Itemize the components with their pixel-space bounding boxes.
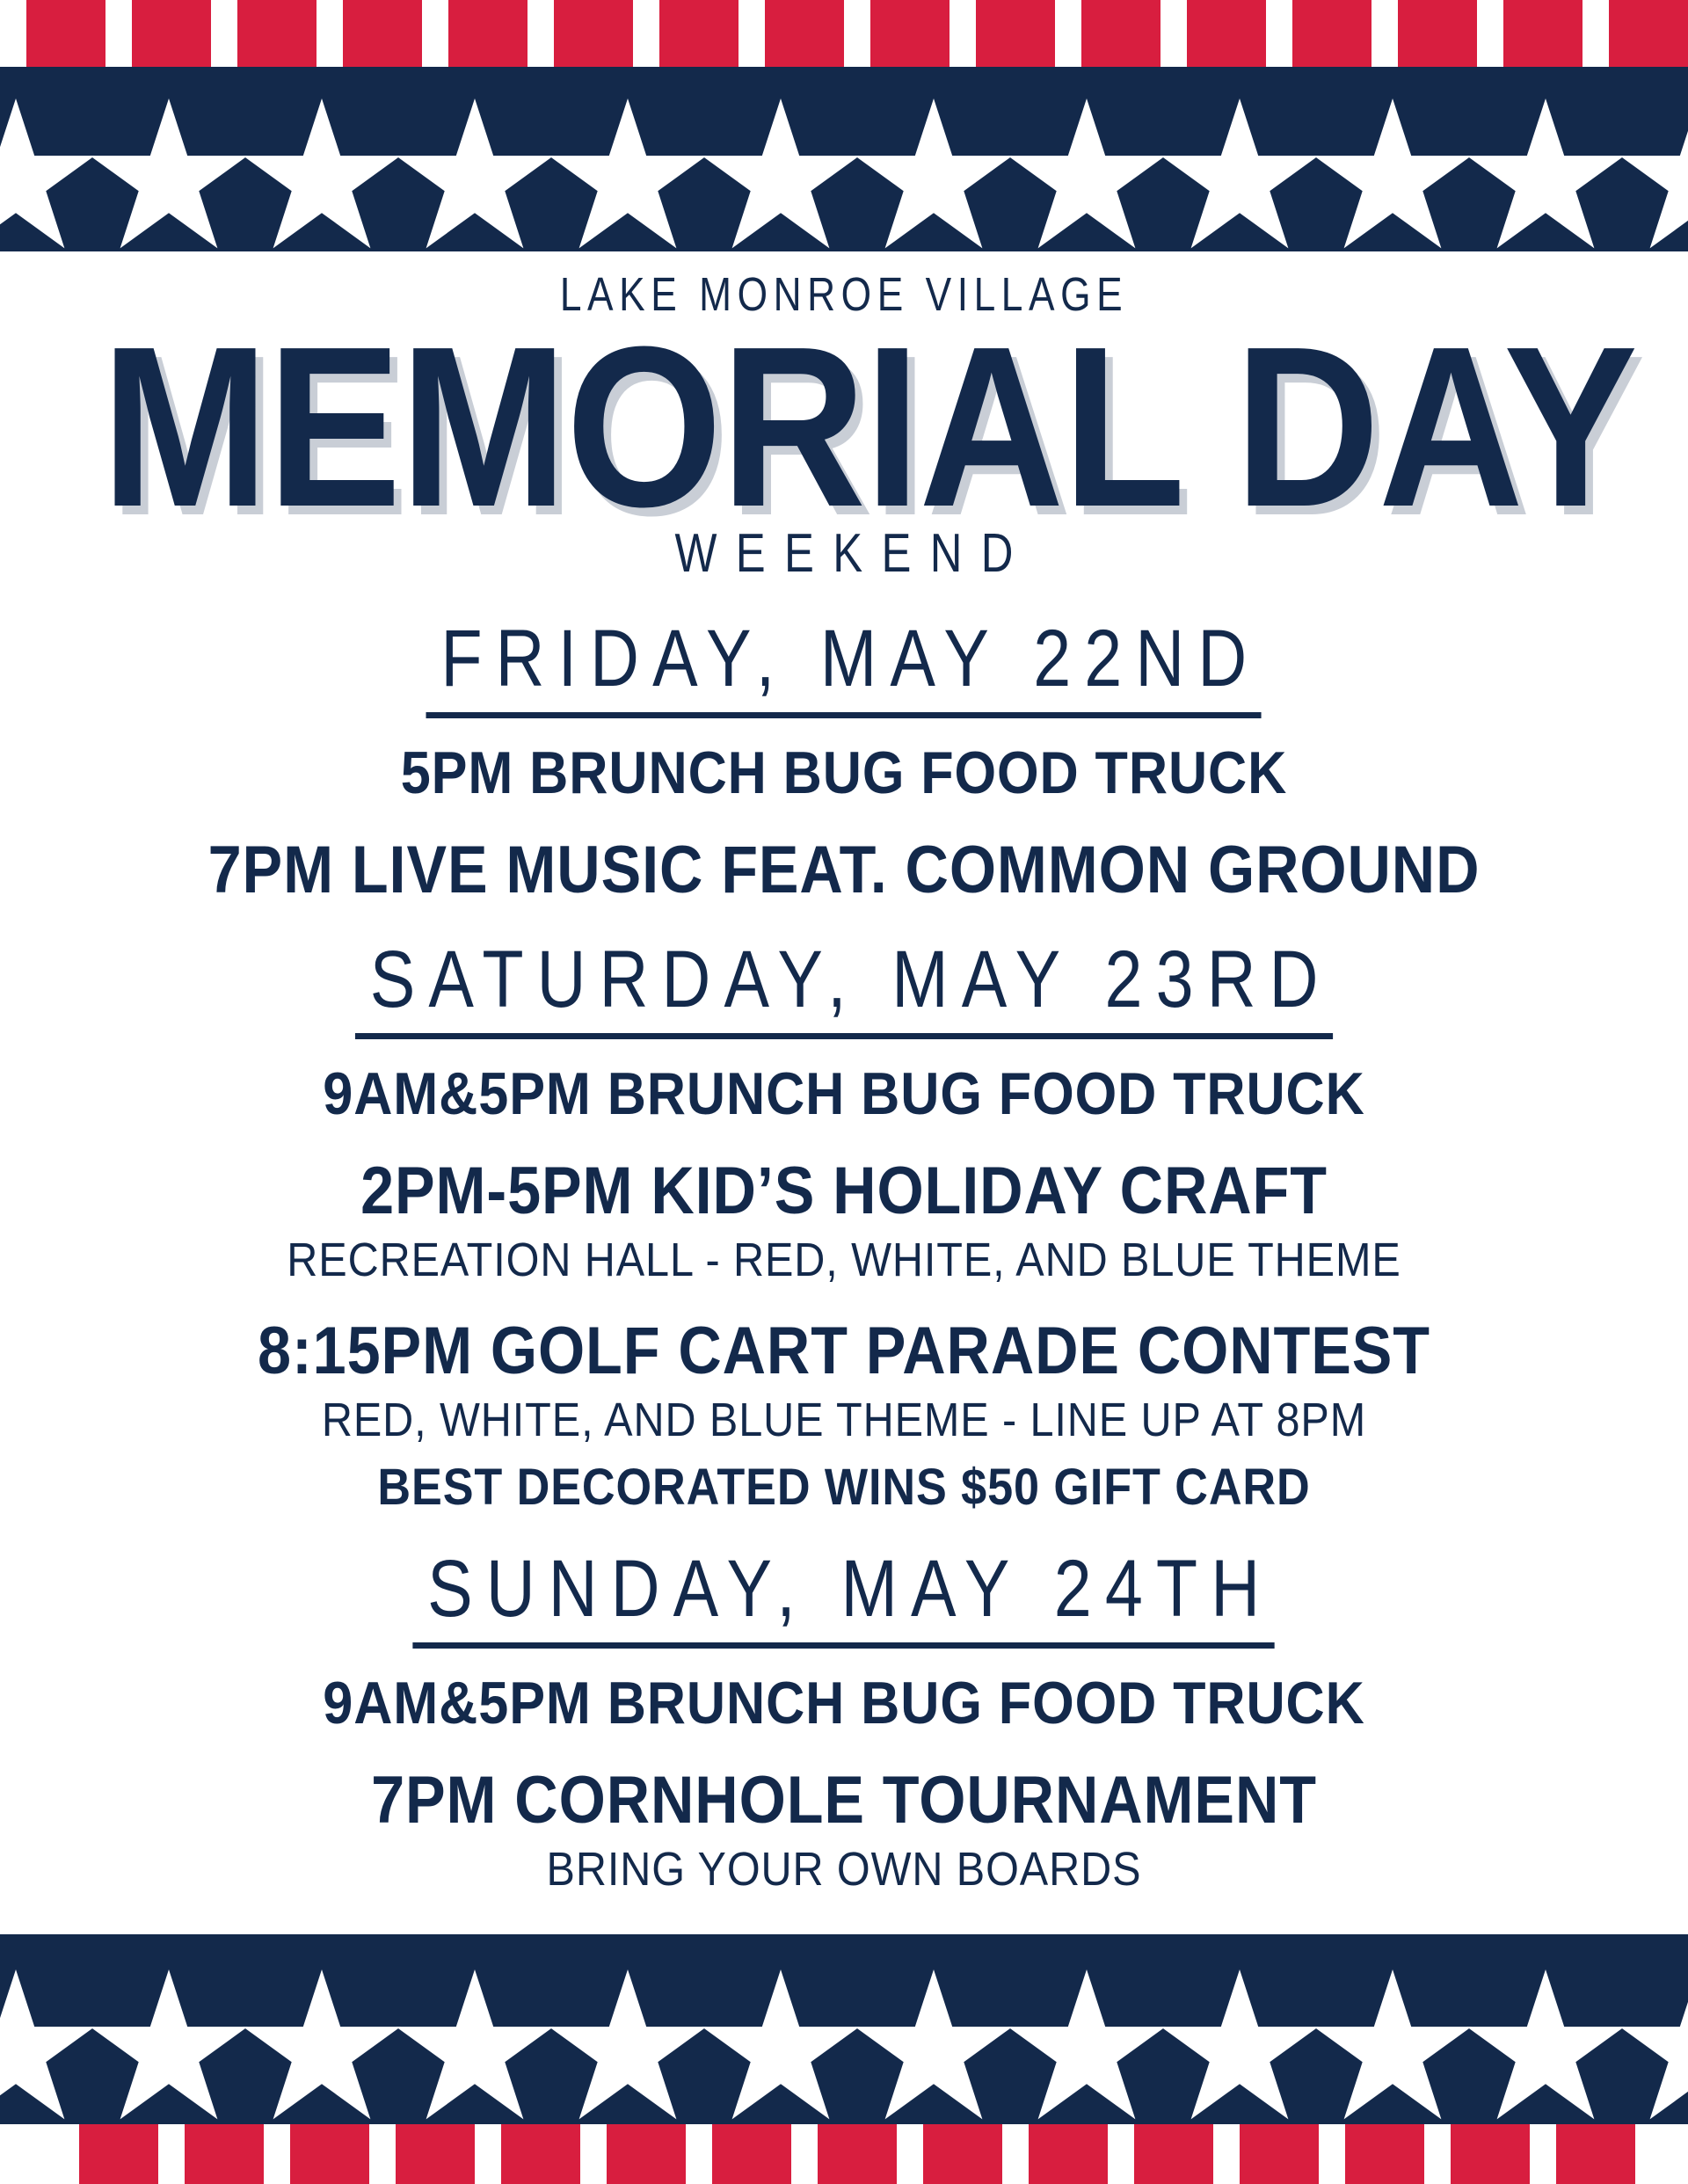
day-section-friday: FRIDAY, MAY 22ND	[0, 581, 1688, 718]
day-heading-sunday: SUNDAY, MAY 24TH	[413, 1541, 1275, 1649]
day-section-saturday: SATURDAY, MAY 23RD	[0, 907, 1688, 1039]
flyer-content: LAKE MONROE VILLAGE MEMORIAL DAY WEEKEND…	[0, 257, 1688, 1896]
event-sunday-2-sub-1: BRING YOUR OWN BOARDS	[84, 1838, 1604, 1897]
top-border-svg	[0, 0, 1688, 257]
event-friday-2: 7PM LIVE MUSIC FEAT. COMMON GROUND	[84, 806, 1604, 907]
event-sunday-2: 7PM CORNHOLE TOURNAMENT	[84, 1736, 1604, 1838]
bottom-border-decoration	[0, 1929, 1688, 2184]
event-sunday-1: 9AM&5PM BRUNCH BUG FOOD TRUCK	[84, 1649, 1604, 1736]
event-saturday-3: 8:15PM GOLF CART PARADE CONTEST	[84, 1287, 1604, 1388]
event-saturday-3-sub-2: BEST DECORATED WINS $50 GIFT CARD	[84, 1448, 1604, 1517]
day-heading-friday: FRIDAY, MAY 22ND	[426, 611, 1262, 718]
event-friday-1: 5PM BRUNCH BUG FOOD TRUCK	[84, 718, 1604, 806]
event-saturday-2-sub-1: RECREATION HALL - RED, WHITE, AND BLUE T…	[84, 1228, 1604, 1288]
bottom-stripes	[79, 2124, 1635, 2184]
flyer-page: LAKE MONROE VILLAGE MEMORIAL DAY WEEKEND…	[0, 0, 1688, 2184]
day-section-sunday: SUNDAY, MAY 24TH	[0, 1517, 1688, 1649]
event-saturday-1: 9AM&5PM BRUNCH BUG FOOD TRUCK	[84, 1039, 1604, 1127]
page-title: MEMORIAL DAY	[101, 318, 1587, 521]
bottom-border-svg	[0, 1929, 1688, 2184]
day-heading-saturday: SATURDAY, MAY 23RD	[355, 932, 1333, 1039]
event-saturday-2: 2PM-5PM KID’S HOLIDAY CRAFT	[84, 1127, 1604, 1228]
title-subtitle: WEEKEND	[152, 521, 1536, 581]
top-border-decoration	[0, 0, 1688, 257]
event-saturday-3-sub-1: RED, WHITE, AND BLUE THEME - LINE UP AT …	[84, 1388, 1604, 1448]
